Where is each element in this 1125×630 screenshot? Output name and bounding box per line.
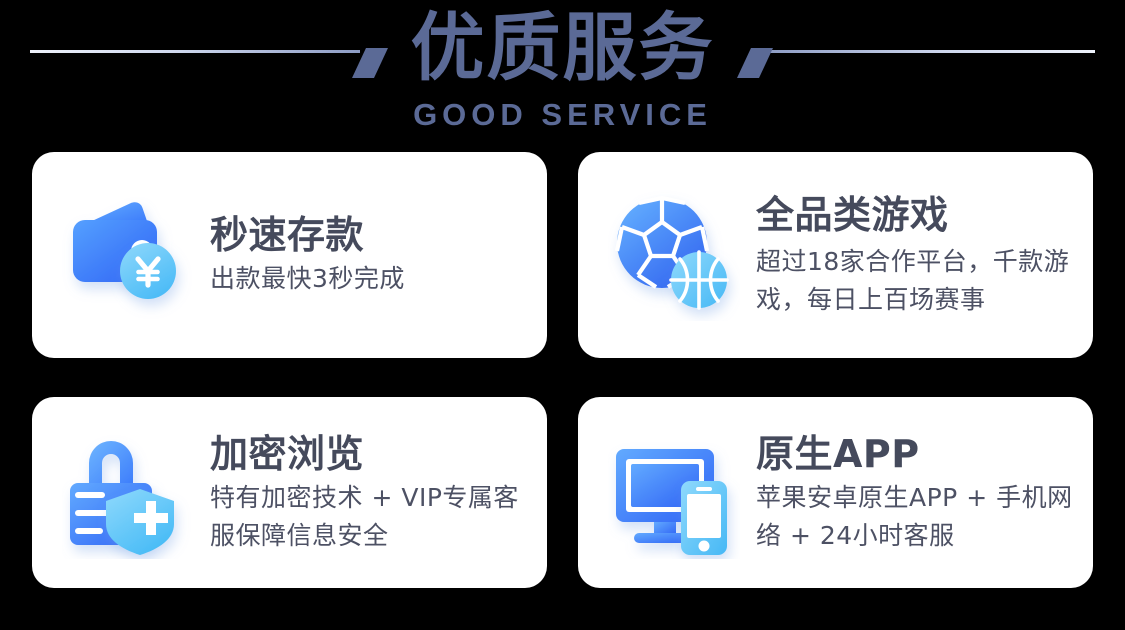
card-title: 加密浏览	[210, 431, 533, 477]
feature-card-native-app[interactable]: 原生APP 苹果安卓原生APP + 手机网络 + 24小时客服	[578, 397, 1093, 588]
monitor-phone-icon	[608, 427, 740, 559]
card-text-block: 加密浏览 特有加密技术 + VIP专属客服保障信息安全	[210, 431, 533, 555]
page-title: 优质服务	[0, 6, 1125, 90]
card-title: 原生APP	[756, 431, 1079, 477]
card-title: 全品类游戏	[756, 192, 1079, 238]
page-subtitle: GOOD SERVICE	[0, 96, 1125, 134]
card-text-block: 全品类游戏 超过18家合作平台，千款游戏，每日上百场赛事	[756, 192, 1079, 319]
card-title: 秒速存款	[210, 212, 533, 258]
card-description: 苹果安卓原生APP + 手机网络 + 24小时客服	[756, 479, 1079, 555]
page-root: 优质服务 GOOD SERVICE	[0, 0, 1125, 630]
lock-shield-icon	[62, 427, 194, 559]
feature-card-all-category-games[interactable]: 全品类游戏 超过18家合作平台，千款游戏，每日上百场赛事	[578, 152, 1093, 358]
wallet-icon	[62, 189, 194, 321]
feature-card-instant-deposit[interactable]: 秒速存款 出款最快3秒完成	[32, 152, 547, 358]
card-description: 出款最快3秒完成	[210, 260, 533, 298]
feature-card-grid: 秒速存款 出款最快3秒完成	[32, 152, 1093, 588]
card-text-block: 秒速存款 出款最快3秒完成	[210, 212, 533, 298]
card-description: 超过18家合作平台，千款游戏，每日上百场赛事	[756, 243, 1079, 319]
page-header: 优质服务 GOOD SERVICE	[0, 0, 1125, 142]
sports-ball-icon	[608, 189, 740, 321]
card-text-block: 原生APP 苹果安卓原生APP + 手机网络 + 24小时客服	[756, 431, 1079, 555]
feature-card-encrypted-browsing[interactable]: 加密浏览 特有加密技术 + VIP专属客服保障信息安全	[32, 397, 547, 588]
card-description: 特有加密技术 + VIP专属客服保障信息安全	[210, 479, 533, 555]
